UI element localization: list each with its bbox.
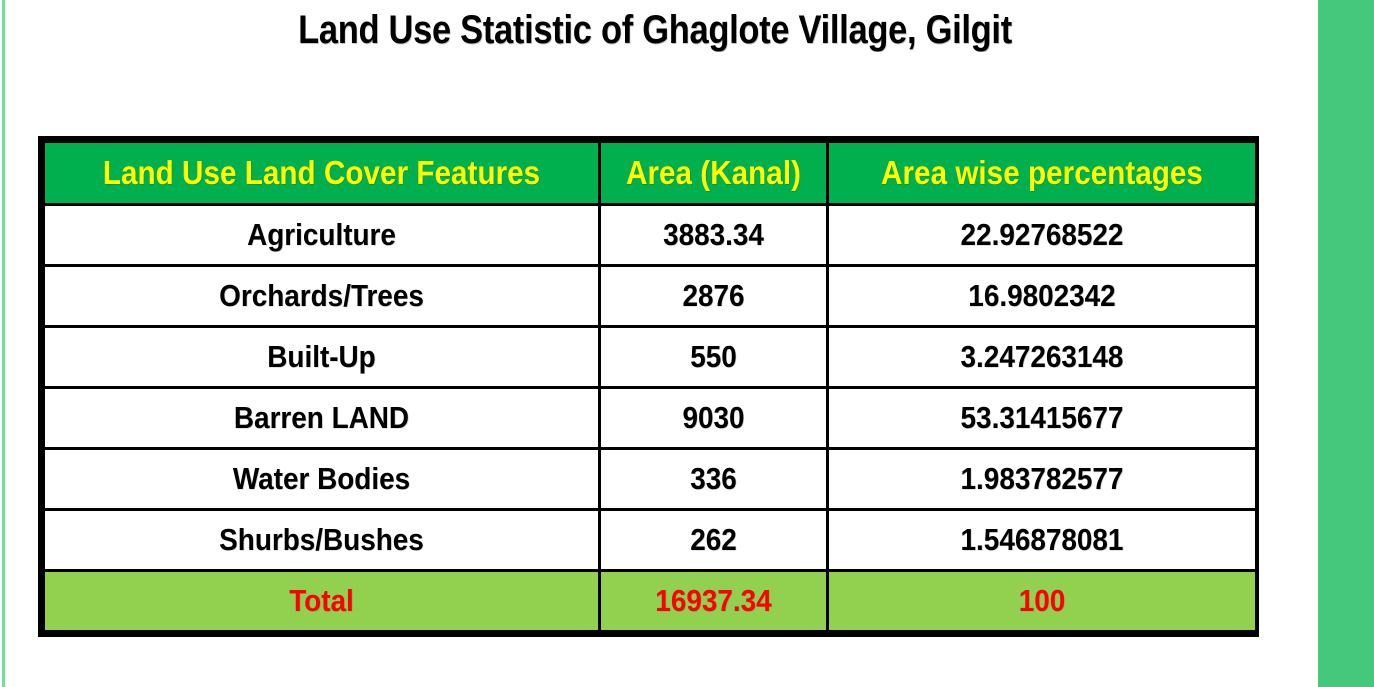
cell-area: 9030 (600, 388, 828, 449)
table-header: Land Use Land Cover Features Area (Kanal… (44, 142, 1257, 205)
column-header-percentage-label: Area wise percentages (850, 154, 1233, 192)
cell-feature: Barren LAND (44, 388, 600, 449)
cell-percentage-text: 3.247263148 (850, 339, 1233, 375)
cell-percentage-text: 1.983782577 (850, 461, 1233, 497)
cell-percentage: 16.9802342 (828, 266, 1257, 327)
left-edge-accent-bar (2, 0, 5, 687)
cell-area: 336 (600, 449, 828, 510)
cell-area: 2876 (600, 266, 828, 327)
cell-percentage: 22.92768522 (828, 205, 1257, 266)
land-use-statistics-table: Land Use Land Cover Features Area (Kanal… (42, 140, 1258, 633)
column-header-feature-label: Land Use Land Cover Features (73, 154, 571, 192)
table-total-row: Total 16937.34 100 (44, 571, 1257, 632)
table-row: Orchards/Trees 2876 16.9802342 (44, 266, 1257, 327)
table-body: Agriculture 3883.34 22.92768522 Orchards… (44, 205, 1257, 632)
cell-total-label: Total (44, 571, 600, 632)
table-row: Barren LAND 9030 53.31415677 (44, 388, 1257, 449)
cell-feature: Shurbs/Bushes (44, 510, 600, 571)
column-header-area: Area (Kanal) (600, 142, 828, 205)
cell-area-text: 3883.34 (612, 217, 815, 253)
table-row: Agriculture 3883.34 22.92768522 (44, 205, 1257, 266)
cell-percentage-text: 1.546878081 (850, 522, 1233, 558)
cell-total-label-text: Total (73, 583, 571, 619)
cell-area-text: 9030 (612, 400, 815, 436)
cell-feature: Orchards/Trees (44, 266, 600, 327)
table-row: Shurbs/Bushes 262 1.546878081 (44, 510, 1257, 571)
page-title: Land Use Statistic of Ghaglote Village, … (92, 8, 1219, 53)
cell-area: 262 (600, 510, 828, 571)
cell-area: 550 (600, 327, 828, 388)
cell-area: 3883.34 (600, 205, 828, 266)
cell-feature-text: Built-Up (73, 339, 571, 375)
land-use-table-container: Land Use Land Cover Features Area (Kanal… (38, 136, 1259, 637)
column-header-feature: Land Use Land Cover Features (44, 142, 600, 205)
cell-area-text: 550 (612, 339, 815, 375)
cell-percentage-text: 22.92768522 (850, 217, 1233, 253)
cell-area-text: 2876 (612, 278, 815, 314)
cell-percentage: 1.983782577 (828, 449, 1257, 510)
cell-feature-text: Agriculture (73, 217, 571, 253)
table-header-row: Land Use Land Cover Features Area (Kanal… (44, 142, 1257, 205)
cell-feature: Water Bodies (44, 449, 600, 510)
table-row: Water Bodies 336 1.983782577 (44, 449, 1257, 510)
column-header-percentage: Area wise percentages (828, 142, 1257, 205)
cell-total-area-text: 16937.34 (612, 583, 815, 619)
cell-feature-text: Barren LAND (73, 400, 571, 436)
right-green-decorative-band (1318, 0, 1374, 687)
cell-area-text: 336 (612, 461, 815, 497)
cell-feature-text: Orchards/Trees (73, 278, 571, 314)
cell-percentage: 53.31415677 (828, 388, 1257, 449)
table-row: Built-Up 550 3.247263148 (44, 327, 1257, 388)
cell-total-percentage: 100 (828, 571, 1257, 632)
cell-feature: Agriculture (44, 205, 600, 266)
cell-feature-text: Water Bodies (73, 461, 571, 497)
cell-percentage: 3.247263148 (828, 327, 1257, 388)
cell-percentage-text: 53.31415677 (850, 400, 1233, 436)
cell-percentage-text: 16.9802342 (850, 278, 1233, 314)
cell-total-percentage-text: 100 (850, 583, 1233, 619)
cell-area-text: 262 (612, 522, 815, 558)
column-header-area-label: Area (Kanal) (612, 154, 815, 192)
cell-feature: Built-Up (44, 327, 600, 388)
cell-percentage: 1.546878081 (828, 510, 1257, 571)
cell-feature-text: Shurbs/Bushes (73, 522, 571, 558)
cell-total-area: 16937.34 (600, 571, 828, 632)
